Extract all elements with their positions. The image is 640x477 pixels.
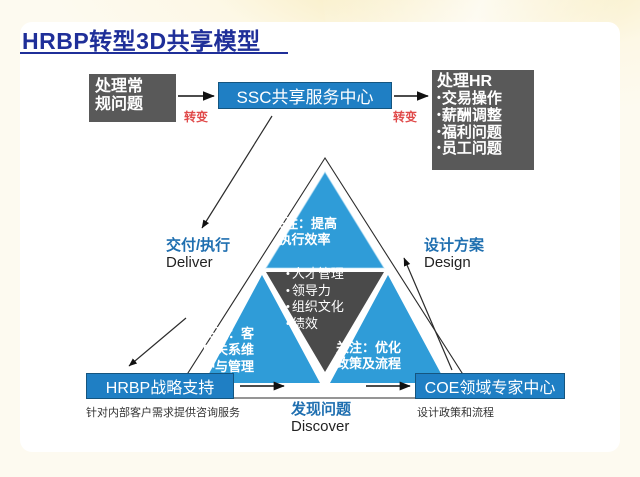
box-hrbp-strategic-support[interactable]: HRBP战略支持 (86, 373, 234, 399)
label-design-cn: 设计方案 (424, 237, 484, 254)
triangle-bottom-left-focus: 关注：客 户关系维 护与管理 (202, 326, 254, 375)
core-item: 绩效 (286, 316, 344, 333)
box-handle-hr-tasks[interactable]: 处理HR 交易操作 薪酬调整 福利问题 员工问题 (432, 70, 534, 170)
box-routine-line-1: 处理常 (95, 78, 170, 96)
triangle-core-items: 人才管理 领导力 组织文化 绩效 (286, 266, 344, 333)
label-deliver-cn: 交付/执行 (166, 237, 230, 254)
box-handle-routine-issues[interactable]: 处理常 规问题 (89, 74, 176, 122)
list-item: 福利问题 (437, 125, 529, 142)
list-item: 员工问题 (437, 141, 529, 158)
caption-coe: 设计政策和流程 (417, 404, 494, 420)
triangle-bl-line-1: 关注：客 (202, 326, 254, 342)
arrow-label-transform-left: 转变 (184, 108, 208, 125)
label-design: 设计方案 Design (424, 237, 484, 272)
arrow-label-transform-right: 转变 (393, 108, 417, 125)
page-title: HRBP转型3D共享模型 (22, 22, 261, 56)
label-discover-cn: 发现问题 (291, 401, 351, 418)
slide-canvas: HRBP转型3D共享模型 (0, 0, 640, 477)
box-routine-line-2: 规问题 (95, 96, 170, 114)
core-item: 组织文化 (286, 299, 344, 316)
core-item: 人才管理 (286, 266, 344, 283)
box-ssc-shared-service-center[interactable]: SSC共享服务中心 (218, 82, 392, 109)
box-hr-list: 交易操作 薪酬调整 福利问题 员工问题 (437, 91, 529, 158)
label-deliver-en: Deliver (166, 254, 230, 271)
box-coe-center-of-expertise[interactable]: COE领域专家中心 (415, 373, 565, 399)
triangle-top-focus-line-2: 执行效率 (272, 232, 337, 248)
triangle-br-line-1: 关注：优化 (336, 340, 401, 356)
core-item: 领导力 (286, 283, 344, 300)
triangle-bl-line-2: 户关系维 (202, 342, 254, 358)
triangle-bottom-right-focus: 关注：优化 政策及流程 (336, 340, 401, 373)
triangle-br-line-2: 政策及流程 (336, 356, 401, 372)
label-design-en: Design (424, 254, 484, 271)
triangle-top-focus: 关注：提高 执行效率 (272, 216, 337, 249)
list-item: 薪酬调整 (437, 108, 529, 125)
box-hr-title: 处理HR (437, 73, 529, 91)
label-discover: 发现问题 Discover (291, 401, 351, 436)
label-deliver: 交付/执行 Deliver (166, 237, 230, 272)
label-discover-en: Discover (291, 418, 351, 435)
list-item: 交易操作 (437, 91, 529, 108)
title-underline (20, 52, 288, 54)
triangle-top-focus-line-1: 关注：提高 (272, 216, 337, 232)
caption-hrbp: 针对内部客户需求提供咨询服务 (86, 404, 240, 420)
